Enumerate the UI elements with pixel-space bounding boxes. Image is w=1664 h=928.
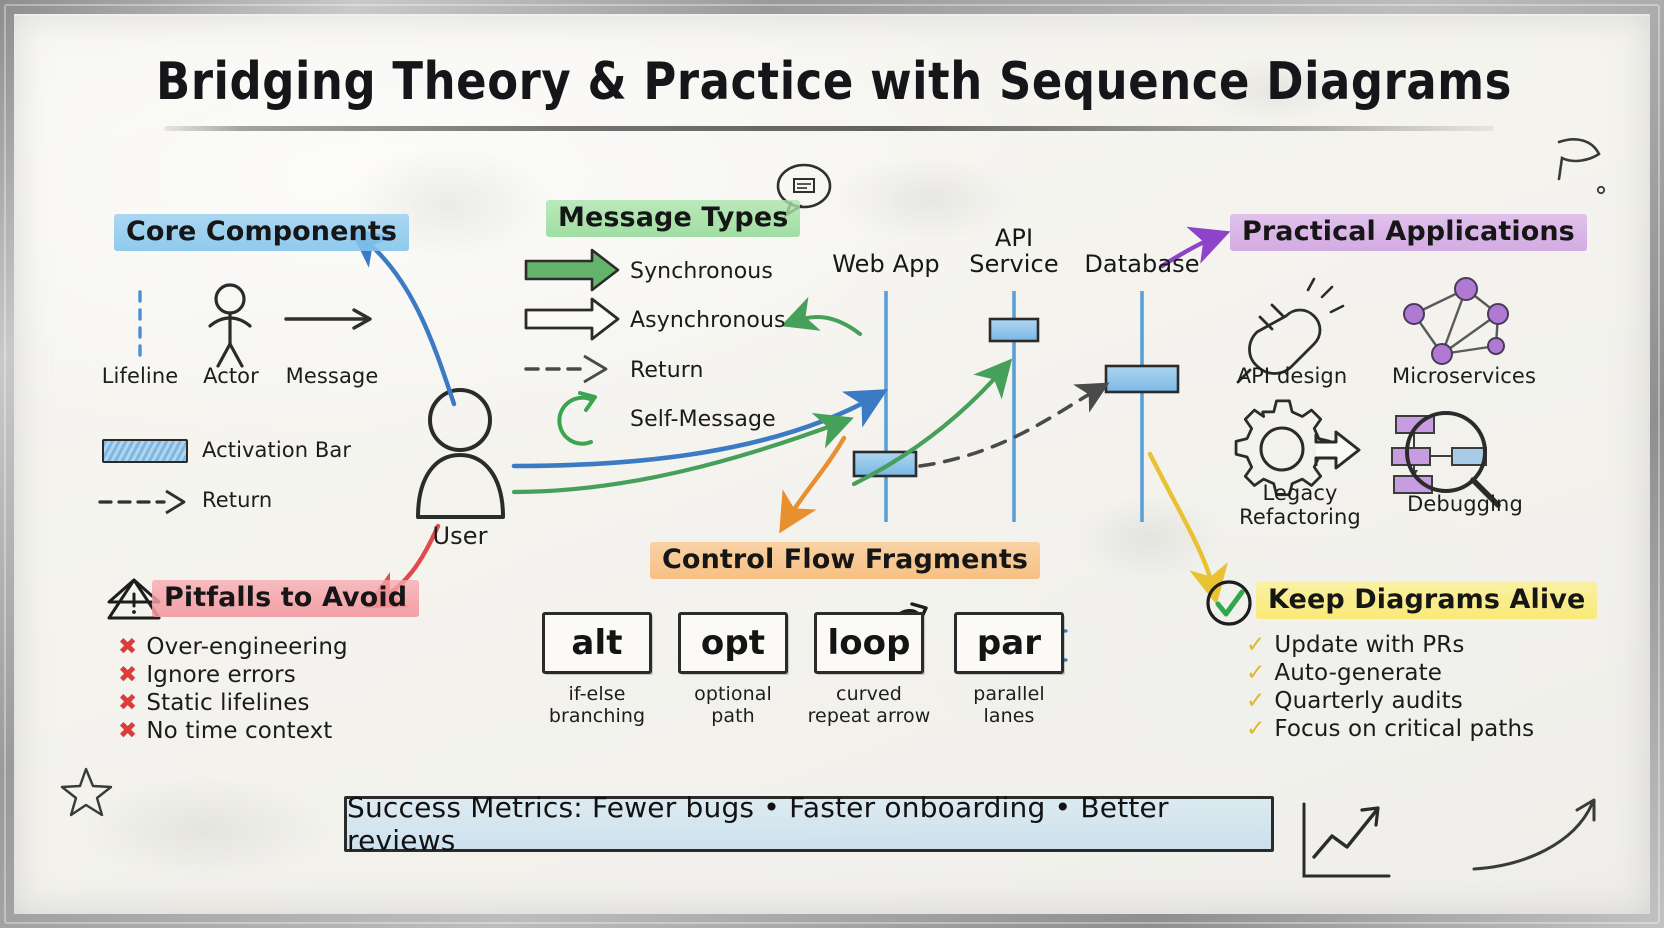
application-label-legacy-refactoring: Legacy Refactoring (1222, 482, 1378, 530)
asynchronous-arrow-icon (526, 299, 618, 339)
keep-alive-label: Focus on critical paths (1274, 716, 1534, 742)
legend-item-synchronous: Synchronous (630, 252, 773, 290)
check-icon: ✓ (1246, 662, 1265, 685)
core-components-panel: Core Components (114, 214, 409, 251)
application-label-microservices: Microservices (1374, 364, 1554, 388)
check-icon: ✓ (1246, 634, 1265, 657)
trend-chart-icon (1304, 804, 1389, 876)
arrow-webapp-to-database-dashed (920, 388, 1100, 466)
fragment-par: par parallel lanes (954, 612, 1064, 728)
arrow-to-control-flow (786, 438, 844, 522)
x-icon: ✖ (118, 692, 137, 715)
arrow-to-keep-alive (1150, 454, 1214, 592)
activation-bar-database (1106, 366, 1178, 392)
whiteboard-frame: Bridging Theory & Practice with Sequence… (0, 0, 1664, 928)
core-components-heading: Core Components (114, 214, 409, 251)
lifeline-label-database: Database (1072, 252, 1212, 278)
network-nodes-icon (1404, 278, 1508, 364)
x-icon: ✖ (118, 664, 137, 687)
list-item: ✖ Over-engineering (118, 634, 348, 660)
success-metrics-banner: Success Metrics: Fewer bugs • Faster onb… (344, 796, 1274, 852)
fragment-opt: opt optional path (678, 612, 788, 728)
flag-icon (1559, 139, 1604, 193)
core-component-label-return: Return (202, 488, 272, 512)
legend-label-self-message: Self-Message (630, 407, 776, 432)
success-metrics-text: Success Metrics: Fewer bugs • Faster onb… (347, 791, 1271, 857)
application-label-debugging: Debugging (1380, 492, 1550, 516)
fragment-keyword-par: par (954, 612, 1064, 674)
list-item: ✖ Static lifelines (118, 690, 348, 716)
self-message-loop-icon (559, 393, 595, 444)
message-arrow-icon (286, 310, 370, 328)
legend-item-self-message: Self-Message (630, 400, 776, 438)
list-item: ✓ Focus on critical paths (1246, 716, 1534, 742)
list-item: ✖ No time context (118, 718, 348, 744)
legend-label-synchronous: Synchronous (630, 259, 773, 284)
application-label-api-design: API design (1222, 364, 1362, 388)
fragment-caption-par: parallel lanes (954, 683, 1064, 728)
return-arrow-icon (526, 356, 606, 382)
pitfalls-list: ✖ Over-engineering ✖ Ignore errors ✖ Sta… (118, 634, 348, 746)
core-component-label-message: Message (278, 364, 386, 388)
message-types-heading: Message Types (546, 200, 800, 237)
circled-check-icon (1208, 582, 1250, 624)
legend-item-return: Return (630, 351, 704, 389)
activation-bar-swatch (102, 439, 188, 463)
control-flow-heading: Control Flow Fragments (650, 542, 1040, 579)
core-component-label-actor: Actor (188, 364, 274, 388)
activation-bar-api-service (990, 319, 1038, 341)
fragment-keyword-opt: opt (678, 612, 788, 674)
actor-stick-figure-icon (210, 285, 250, 366)
whiteboard-surface: Bridging Theory & Practice with Sequence… (14, 14, 1650, 914)
fragment-loop: loop curved repeat arrow (814, 612, 934, 728)
list-item: ✖ Ignore errors (118, 662, 348, 688)
actor-label-user: User (410, 522, 510, 550)
user-actor-figure (418, 390, 503, 517)
lifeline-label-web-app: Web App (816, 252, 956, 278)
pitfalls-heading: Pitfalls to Avoid (152, 580, 419, 617)
check-icon: ✓ (1246, 690, 1265, 713)
synchronous-arrow-icon (526, 250, 618, 290)
core-component-label-activation-bar: Activation Bar (202, 438, 351, 462)
return-dashed-arrow-icon (100, 491, 184, 513)
x-icon: ✖ (118, 720, 137, 743)
arrow-async-return (792, 317, 860, 334)
keep-alive-heading: Keep Diagrams Alive (1256, 582, 1597, 619)
keep-alive-label: Quarterly audits (1274, 688, 1462, 714)
check-icon: ✓ (1246, 718, 1265, 741)
x-icon: ✖ (118, 636, 137, 659)
keep-alive-label: Update with PRs (1274, 632, 1464, 658)
list-item: ✓ Auto-generate (1246, 660, 1534, 686)
swoosh-arrow-icon (1474, 800, 1594, 869)
legend-label-asynchronous: Asynchronous (630, 308, 786, 333)
star-icon (62, 769, 111, 815)
message-types-panel: Message Types (546, 200, 800, 237)
practical-applications-heading: Practical Applications (1230, 214, 1587, 251)
fragment-keyword-alt: alt (542, 612, 652, 674)
pitfall-label: No time context (146, 718, 332, 744)
keep-alive-list: ✓ Update with PRs ✓ Auto-generate ✓ Quar… (1246, 632, 1534, 744)
legend-label-return: Return (630, 358, 704, 383)
pitfall-label: Static lifelines (146, 690, 309, 716)
diagram-strokes-layer (14, 14, 1650, 914)
practical-applications-panel: Practical Applications (1230, 214, 1587, 251)
control-flow-panel: Control Flow Fragments (650, 542, 1040, 579)
pitfall-label: Over-engineering (146, 634, 347, 660)
fragment-caption-loop: curved repeat arrow (804, 683, 934, 728)
keep-alive-panel: Keep Diagrams Alive (1256, 582, 1597, 619)
list-item: ✓ Update with PRs (1246, 632, 1534, 658)
core-component-label-lifeline: Lifeline (94, 364, 186, 388)
fragment-caption-alt: if-else branching (542, 683, 652, 728)
pitfall-label: Ignore errors (146, 662, 295, 688)
pitfalls-panel: Pitfalls to Avoid (152, 580, 419, 617)
keep-alive-label: Auto-generate (1274, 660, 1442, 686)
fragment-keyword-loop: loop (814, 612, 924, 674)
legend-item-asynchronous: Asynchronous (630, 301, 786, 339)
fragment-caption-opt: optional path (678, 683, 788, 728)
list-item: ✓ Quarterly audits (1246, 688, 1534, 714)
lifeline-label-api-service: API Service (958, 226, 1070, 278)
fragment-alt: alt if-else branching (542, 612, 652, 728)
